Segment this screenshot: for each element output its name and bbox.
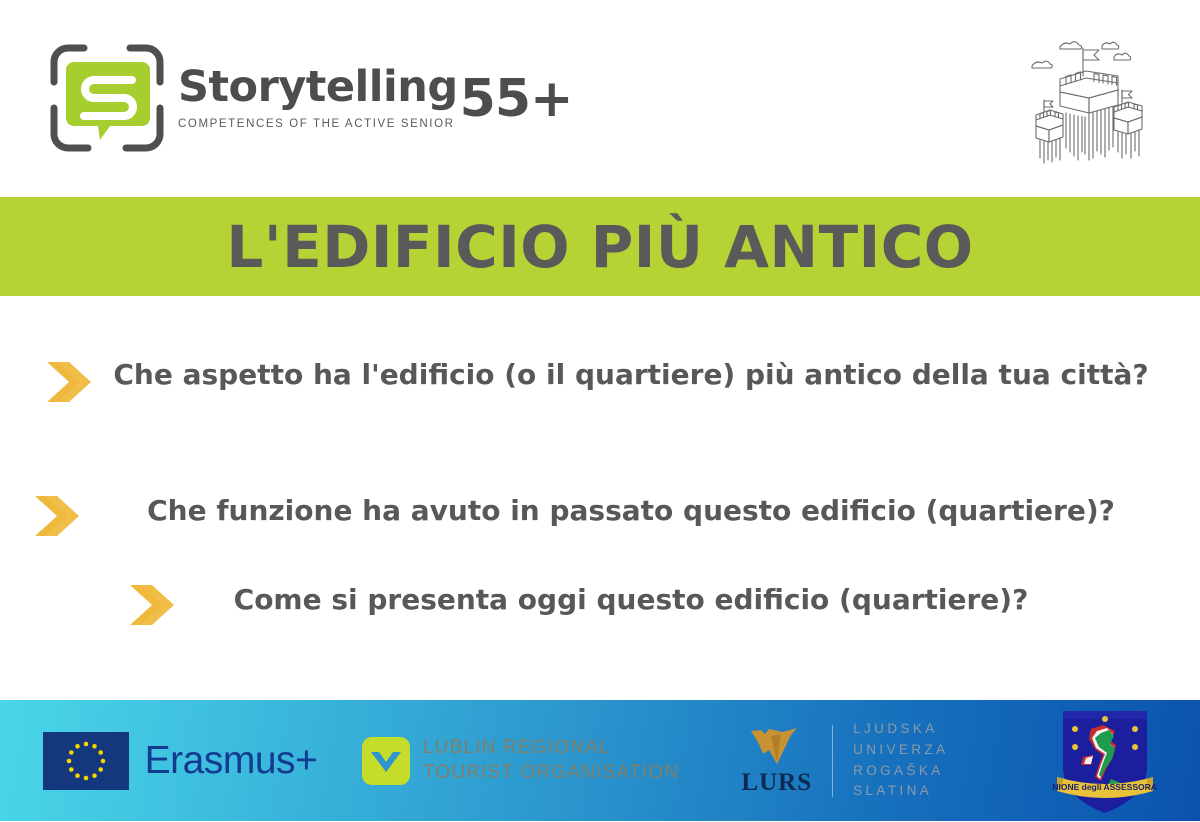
partner-assessorati: UNIONE degli ASSESSORATI [1010,700,1200,821]
page-title: L'EDIFICIO PIÙ ANTICO [226,218,973,276]
brand-title: Storytelling [178,66,458,109]
storytelling-speech-bubble-s-mark [48,42,166,154]
partner-lurs: LURS LJUDSKA UNIVERZA ROGAŠKA SLATINA [680,700,1010,821]
lublin-name-line2: TOURIST ORGANISATION [423,761,679,785]
erasmus-label: Erasmus+ [145,741,318,780]
brand-age-badge: 55+ [460,76,573,124]
lurs-logo: LURS [741,726,812,795]
unione-assessorati-shield-icon: UNIONE degli ASSESSORATI [1053,705,1157,817]
page-header: Storytelling COMPETENCES OF THE ACTIVE S… [0,0,1200,197]
chevron-arrow-icon [33,494,85,538]
partner-footer: Erasmus+ LUBLIN REGIONAL TOURIST ORGANIS… [0,700,1200,821]
lurs-name-line3: ROGAŠKA [853,761,948,782]
question-text: Come si presenta oggi questo edificio (q… [180,581,1073,620]
lurs-v-icon [747,726,807,768]
partner-lublin: LUBLIN REGIONAL TOURIST ORGANISATION [360,700,680,821]
question-item: Che funzione ha avuto in passato questo … [0,492,1200,538]
european-union-flag-icon [43,732,129,790]
storytelling-logo: Storytelling COMPETENCES OF THE ACTIVE S… [48,42,573,154]
question-text: Che funzione ha avuto in passato questo … [85,492,1168,531]
assessorati-banner-text: UNIONE degli ASSESSORATI [1053,782,1157,792]
lurs-divider [832,725,833,797]
question-item: Come si presenta oggi questo edificio (q… [0,581,1200,627]
lublin-name: LUBLIN REGIONAL TOURIST ORGANISATION [423,736,679,785]
question-item: Che aspetto ha l'edificio (o il quartier… [0,356,1200,404]
lublin-checkmark-icon [361,736,411,786]
brand-wordmark: Storytelling COMPETENCES OF THE ACTIVE S… [178,66,573,130]
lurs-name-line4: SLATINA [853,781,948,802]
questions-section: Che aspetto ha l'edificio (o il quartier… [0,296,1200,700]
brand-tagline: COMPETENCES OF THE ACTIVE SENIOR [178,118,458,130]
lurs-institution-name: LJUDSKA UNIVERZA ROGAŠKA SLATINA [853,719,948,803]
title-banner: L'EDIFICIO PIÙ ANTICO [0,197,1200,296]
chevron-arrow-icon [45,360,97,404]
lurs-acronym: LURS [741,770,812,795]
castle-illustration [1014,30,1164,170]
partner-erasmus: Erasmus+ [0,700,360,821]
chevron-arrow-icon [128,583,180,627]
question-text: Che aspetto ha l'edificio (o il quartier… [97,356,1155,395]
lublin-name-line1: LUBLIN REGIONAL [423,736,679,760]
lurs-name-line1: LJUDSKA [853,719,948,740]
lurs-name-line2: UNIVERZA [853,740,948,761]
